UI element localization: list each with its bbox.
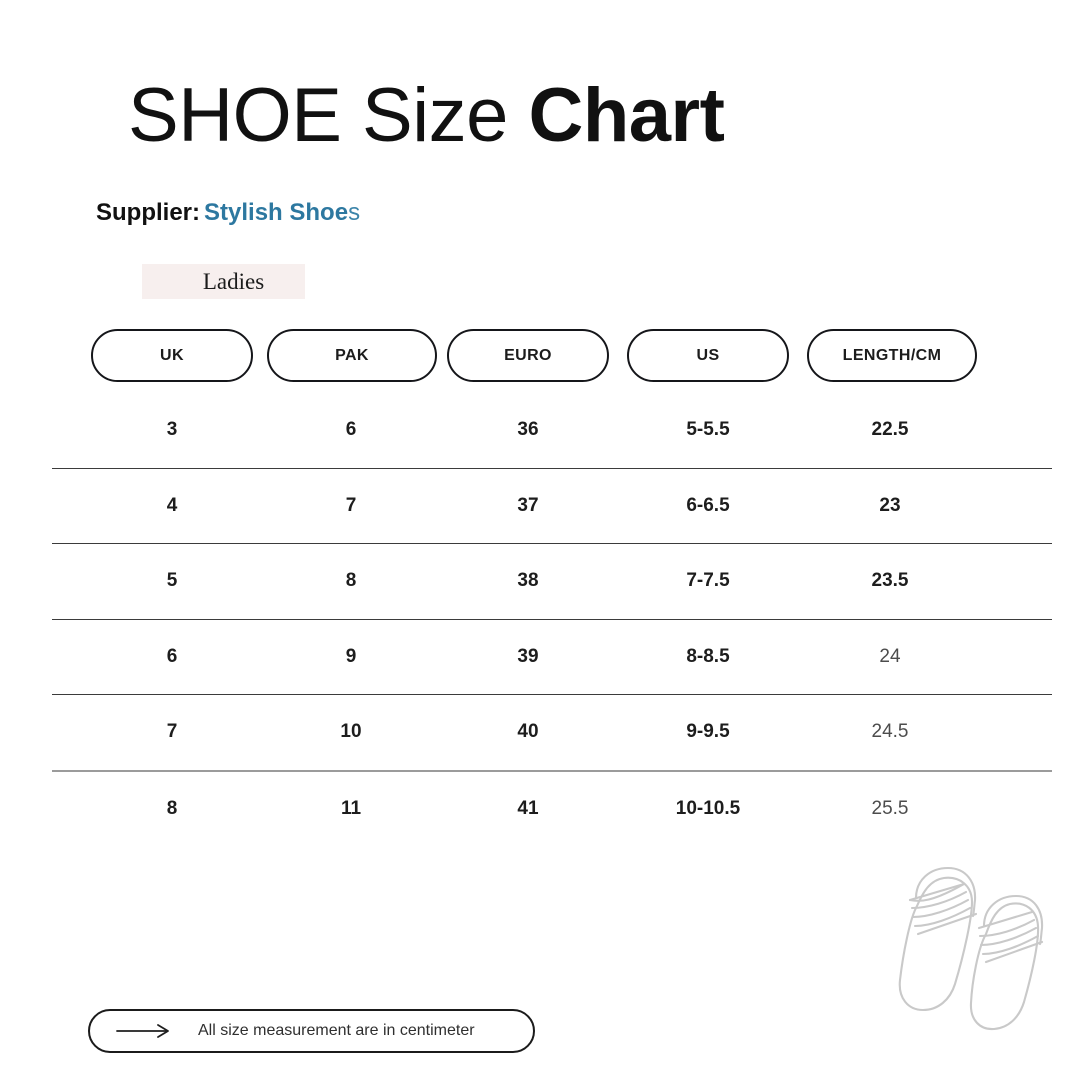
cell-us: 6-6.5 <box>628 469 788 544</box>
cell-length: 22.5 <box>810 393 970 468</box>
cell-uk: 5 <box>92 544 252 619</box>
column-header-us[interactable]: US <box>627 329 789 382</box>
table-row[interactable]: 6 9 39 8-8.5 24 <box>52 619 1052 695</box>
cell-euro: 38 <box>448 544 608 619</box>
table-row[interactable]: 3 6 36 5-5.5 22.5 <box>52 393 1052 468</box>
supplier-name: Stylish Shoe <box>204 199 348 226</box>
column-header-pak[interactable]: PAK <box>267 329 437 382</box>
column-header-us-label: US <box>696 347 719 365</box>
cell-us: 5-5.5 <box>628 393 788 468</box>
page-title-bold: Chart <box>528 73 724 158</box>
category-badge: Ladies <box>142 264 305 299</box>
column-header-uk-label: UK <box>160 347 184 365</box>
cell-uk: 6 <box>92 620 252 695</box>
cell-euro: 39 <box>448 620 608 695</box>
cell-pak: 10 <box>271 695 431 770</box>
cell-us: 10-10.5 <box>628 772 788 847</box>
cell-uk: 7 <box>92 695 252 770</box>
page-title-light: SHOE Size <box>128 73 508 158</box>
cell-pak: 11 <box>271 772 431 847</box>
cell-us: 9-9.5 <box>628 695 788 770</box>
cell-uk: 3 <box>92 393 252 468</box>
cell-pak: 9 <box>271 620 431 695</box>
cell-length: 24.5 <box>810 695 970 770</box>
cell-euro: 36 <box>448 393 608 468</box>
table-row[interactable]: 8 11 41 10-10.5 25.5 <box>52 770 1052 847</box>
table-header-row: UK PAK EURO US LENGTH/CM <box>91 329 989 382</box>
cell-us: 7-7.5 <box>628 544 788 619</box>
category-badge-label: Ladies <box>183 269 264 295</box>
footnote-text: All size measurement are in centimeter <box>198 1022 475 1040</box>
cell-uk: 8 <box>92 772 252 847</box>
column-header-euro[interactable]: EURO <box>447 329 609 382</box>
arrow-right-icon <box>116 1023 172 1039</box>
cell-length: 23.5 <box>810 544 970 619</box>
column-header-euro-label: EURO <box>504 347 552 365</box>
slippers-illustration <box>880 858 1055 1033</box>
cell-uk: 4 <box>92 469 252 544</box>
cell-length: 25.5 <box>810 772 970 847</box>
footnote-pill[interactable]: All size measurement are in centimeter <box>88 1009 535 1053</box>
table-row[interactable]: 7 10 40 9-9.5 24.5 <box>52 694 1052 770</box>
cell-euro: 37 <box>448 469 608 544</box>
supplier-label: Supplier: <box>96 199 200 226</box>
table-row[interactable]: 4 7 37 6-6.5 23 <box>52 468 1052 544</box>
slippers-icon <box>880 858 1055 1033</box>
cell-pak: 7 <box>271 469 431 544</box>
supplier-name-tail: s <box>348 199 360 226</box>
size-table: 3 6 36 5-5.5 22.5 4 7 37 6-6.5 23 5 8 38… <box>52 393 1052 846</box>
shoe-size-chart-page: SHOE Size Chart Supplier:Stylish Shoes L… <box>0 0 1080 1080</box>
supplier-line: Supplier:Stylish Shoes <box>96 201 360 225</box>
cell-euro: 40 <box>448 695 608 770</box>
table-row[interactable]: 5 8 38 7-7.5 23.5 <box>52 543 1052 619</box>
cell-euro: 41 <box>448 772 608 847</box>
cell-pak: 6 <box>271 393 431 468</box>
cell-length: 24 <box>810 620 970 695</box>
column-header-pak-label: PAK <box>335 347 369 365</box>
cell-pak: 8 <box>271 544 431 619</box>
cell-us: 8-8.5 <box>628 620 788 695</box>
cell-length: 23 <box>810 469 970 544</box>
column-header-uk[interactable]: UK <box>91 329 253 382</box>
column-header-length-label: LENGTH/CM <box>843 347 942 365</box>
column-header-length[interactable]: LENGTH/CM <box>807 329 977 382</box>
page-title: SHOE Size Chart <box>128 78 724 154</box>
